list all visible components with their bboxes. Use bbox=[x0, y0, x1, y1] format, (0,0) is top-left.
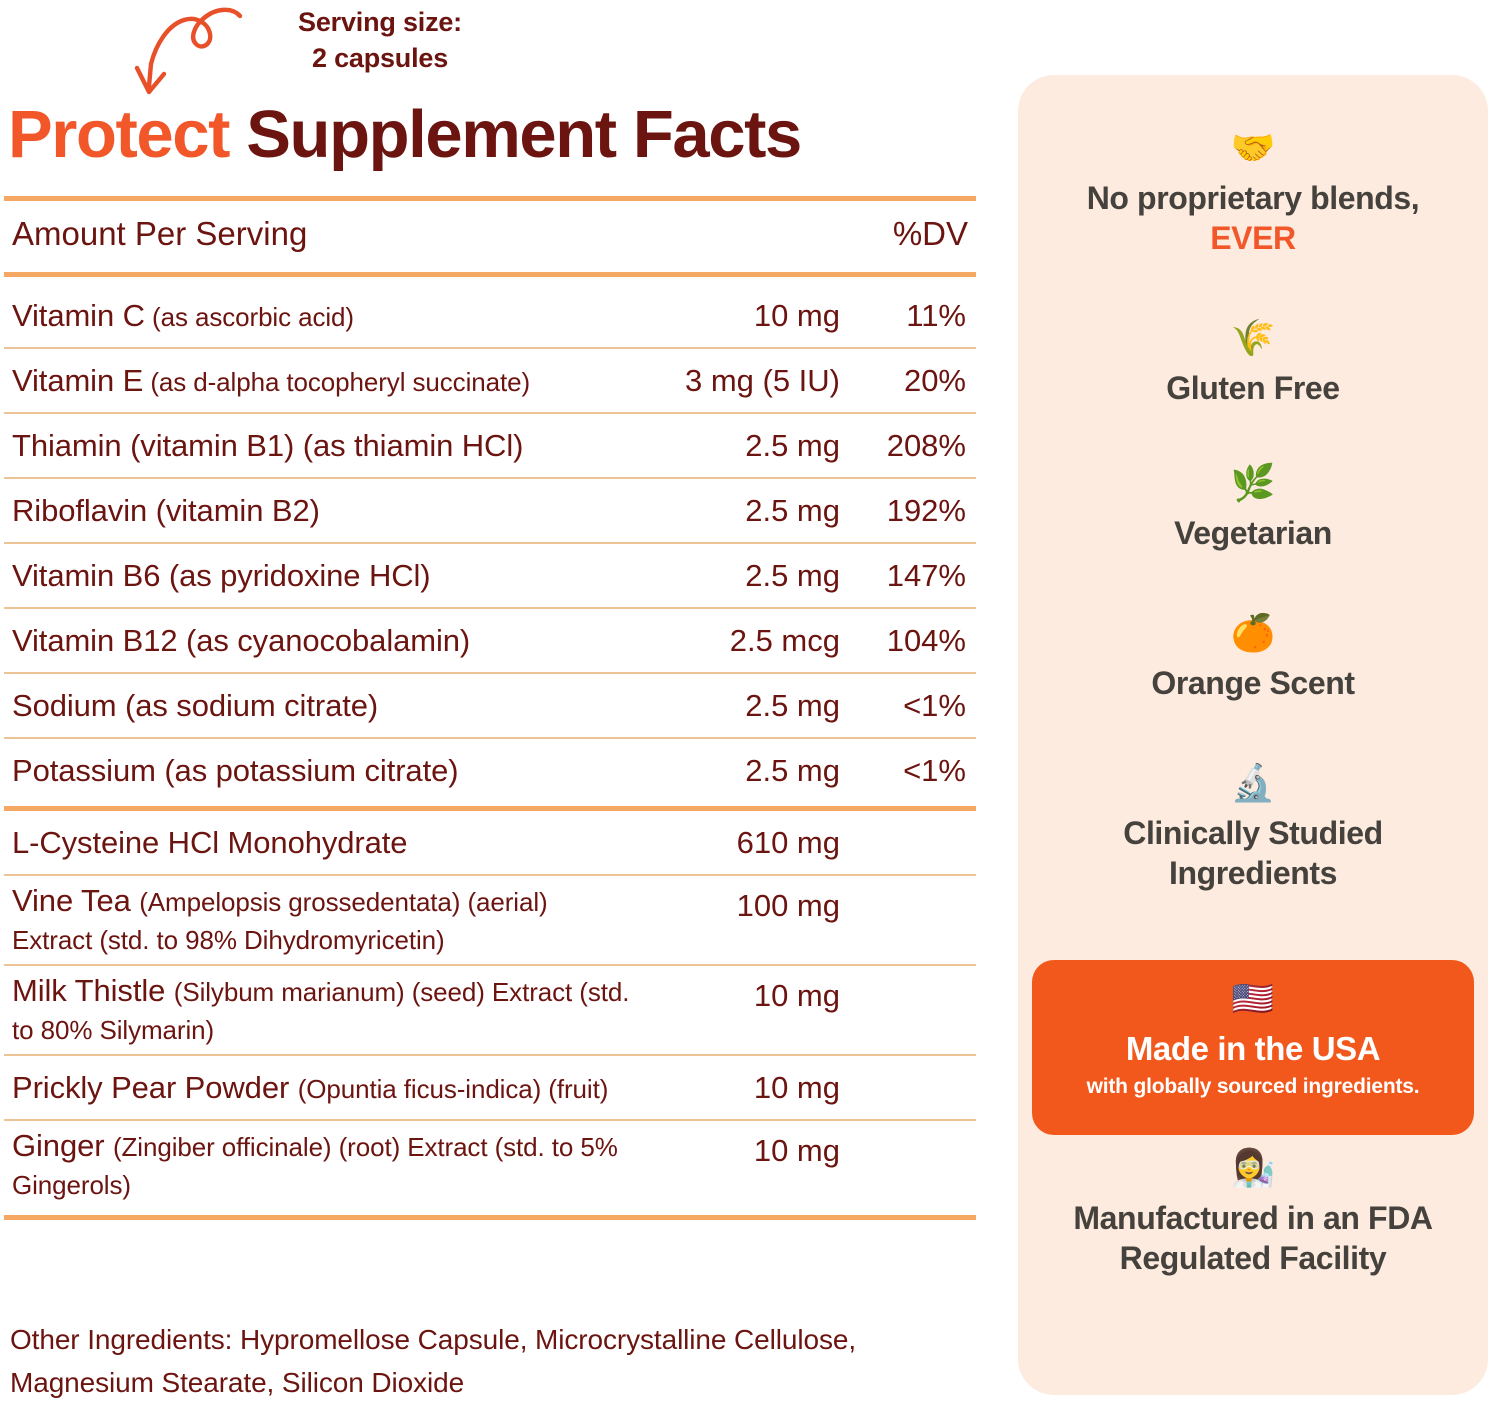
serving-size-line1: Serving size: bbox=[250, 5, 510, 41]
table-row: L-Cysteine HCl Monohydrate610 mg bbox=[4, 811, 976, 874]
ingredient-name: Ginger (Zingiber officinale) (root) Extr… bbox=[4, 1127, 630, 1203]
benefit-badge: 🌿Vegetarian bbox=[1018, 465, 1488, 553]
percent-dv-label: %DV bbox=[893, 215, 968, 253]
benefit-badge-text: Vegetarian bbox=[1174, 515, 1332, 551]
herb-icon: 🌿 bbox=[1018, 465, 1488, 501]
ingredient-amount: 10 mg bbox=[630, 1070, 848, 1106]
ingredient-name-main: Prickly Pear Powder bbox=[12, 1070, 298, 1105]
benefit-badge-text: Gluten Free bbox=[1166, 370, 1339, 406]
benefit-badge-label: Gluten Free bbox=[1018, 368, 1488, 408]
ingredient-amount: 610 mg bbox=[630, 825, 848, 861]
table-row: Vitamin B6 (as pyridoxine HCl)2.5 mg147% bbox=[4, 544, 976, 607]
ingredient-amount: 2.5 mg bbox=[630, 688, 848, 724]
nutrition-table: Vitamin C (as ascorbic acid)10 mg11%Vita… bbox=[4, 284, 976, 1220]
ingredient-name-main: Vitamin E bbox=[12, 363, 143, 398]
ingredient-name-main: Milk Thistle bbox=[12, 973, 174, 1008]
benefit-badge: 🌾Gluten Free bbox=[1018, 320, 1488, 408]
ingredient-name-main: Vitamin C bbox=[12, 298, 145, 333]
ingredient-name: Potassium (as potassium citrate) bbox=[4, 752, 630, 790]
ingredient-dv: 11% bbox=[848, 298, 976, 334]
benefit-badge-text: Clinically Studied Ingredients bbox=[1123, 815, 1383, 891]
ingredient-amount: 2.5 mg bbox=[630, 558, 848, 594]
benefit-badge-label: Clinically Studied Ingredients bbox=[1018, 813, 1488, 893]
other-ingredients: Other Ingredients: Hypromellose Capsule,… bbox=[10, 1318, 910, 1405]
us-flag-icon: 🇺🇸 bbox=[1032, 960, 1474, 1016]
ingredient-name: Vitamin E (as d-alpha tocopheryl succina… bbox=[4, 362, 630, 400]
made-in-usa-card: 🇺🇸 Made in the USA with globally sourced… bbox=[1032, 960, 1474, 1135]
table-row: Vitamin E (as d-alpha tocopheryl succina… bbox=[4, 349, 976, 412]
benefit-badge-text: No proprietary blends, bbox=[1087, 180, 1420, 216]
benefit-badge: 🍊Orange Scent bbox=[1018, 615, 1488, 703]
woman-scientist-icon: 👩‍🔬 bbox=[1018, 1150, 1488, 1186]
benefit-badge: 🔬Clinically Studied Ingredients bbox=[1018, 765, 1488, 893]
benefit-badge-label: Orange Scent bbox=[1018, 663, 1488, 703]
ingredient-dv: <1% bbox=[848, 753, 976, 789]
amount-per-serving-label: Amount Per Serving bbox=[12, 215, 307, 253]
ingredient-name-main: L-Cysteine HCl Monohydrate bbox=[12, 825, 407, 860]
vitamins-section: Vitamin C (as ascorbic acid)10 mg11%Vita… bbox=[4, 284, 976, 802]
ingredient-dv: <1% bbox=[848, 688, 976, 724]
ingredient-name-main: Thiamin (vitamin B1) (as thiamin HCl) bbox=[12, 428, 523, 463]
benefit-badge-label: Vegetarian bbox=[1018, 513, 1488, 553]
table-row: Milk Thistle (Silybum marianum) (seed) E… bbox=[4, 966, 976, 1054]
ingredient-name-main: Ginger bbox=[12, 1128, 113, 1163]
ingredient-name: Riboflavin (vitamin B2) bbox=[4, 492, 630, 530]
handshake-icon: 🤝 bbox=[1018, 130, 1488, 166]
ingredient-amount: 2.5 mg bbox=[630, 753, 848, 789]
rule-header-bottom bbox=[4, 272, 976, 277]
other-ingredients-label: Other Ingredients: bbox=[10, 1324, 232, 1355]
table-row: Thiamin (vitamin B1) (as thiamin HCl)2.5… bbox=[4, 414, 976, 477]
ingredient-name: Vitamin B6 (as pyridoxine HCl) bbox=[4, 557, 630, 595]
serving-size-line2: 2 capsules bbox=[250, 41, 510, 77]
microscope-icon: 🔬 bbox=[1018, 765, 1488, 801]
ingredient-dv bbox=[848, 966, 976, 978]
ingredient-amount: 2.5 mg bbox=[630, 493, 848, 529]
ingredient-name-main: Sodium (as sodium citrate) bbox=[12, 688, 378, 723]
benefits-panel: 🤝No proprietary blends, EVER🌾Gluten Free… bbox=[1018, 75, 1488, 1395]
supplement-facts-panel: Serving size: 2 capsules Protect Supplem… bbox=[0, 0, 985, 1420]
ingredient-name: Sodium (as sodium citrate) bbox=[4, 687, 630, 725]
ingredient-name: Milk Thistle (Silybum marianum) (seed) E… bbox=[4, 972, 630, 1048]
benefit-badge: 👩‍🔬Manufactured in an FDA Regulated Faci… bbox=[1018, 1150, 1488, 1278]
table-row: Potassium (as potassium citrate)2.5 mg<1… bbox=[4, 739, 976, 802]
ingredient-name: Vine Tea (Ampelopsis grossedentata) (aer… bbox=[4, 882, 630, 958]
table-row: Prickly Pear Powder (Opuntia ficus-indic… bbox=[4, 1056, 976, 1119]
made-in-usa-title: Made in the USA bbox=[1032, 1030, 1474, 1068]
ingredient-name-main: Vine Tea bbox=[12, 883, 139, 918]
ingredient-name: Thiamin (vitamin B1) (as thiamin HCl) bbox=[4, 427, 630, 465]
ingredient-dv: 208% bbox=[848, 428, 976, 464]
ingredient-amount: 2.5 mg bbox=[630, 428, 848, 464]
ingredient-amount: 3 mg (5 IU) bbox=[630, 363, 848, 399]
ingredient-dv: 104% bbox=[848, 623, 976, 659]
ingredient-amount: 100 mg bbox=[630, 876, 848, 924]
table-header: Amount Per Serving %DV bbox=[4, 215, 976, 265]
ingredient-amount: 10 mg bbox=[630, 966, 848, 1014]
benefit-badge-accent: EVER bbox=[1210, 220, 1296, 256]
ingredient-name: Prickly Pear Powder (Opuntia ficus-indic… bbox=[4, 1069, 630, 1107]
sheaf-of-rice-icon: 🌾 bbox=[1018, 320, 1488, 356]
ingredient-dv: 20% bbox=[848, 363, 976, 399]
table-row: Vine Tea (Ampelopsis grossedentata) (aer… bbox=[4, 876, 976, 964]
benefit-badge-label: No proprietary blends, EVER bbox=[1018, 178, 1488, 258]
ingredient-amount: 2.5 mcg bbox=[630, 623, 848, 659]
ingredient-name-main: Riboflavin (vitamin B2) bbox=[12, 493, 320, 528]
tangerine-icon: 🍊 bbox=[1018, 615, 1488, 651]
ingredient-dv: 192% bbox=[848, 493, 976, 529]
table-row: Riboflavin (vitamin B2)2.5 mg192% bbox=[4, 479, 976, 542]
rule-bottom bbox=[4, 1215, 976, 1220]
ingredient-dv: 147% bbox=[848, 558, 976, 594]
benefit-badge-text: Orange Scent bbox=[1151, 665, 1354, 701]
ingredient-dv bbox=[848, 1121, 976, 1133]
table-row: Sodium (as sodium citrate)2.5 mg<1% bbox=[4, 674, 976, 737]
ingredient-name-main: Potassium (as potassium citrate) bbox=[12, 753, 458, 788]
ingredient-name: L-Cysteine HCl Monohydrate bbox=[4, 824, 630, 862]
table-row: Ginger (Zingiber officinale) (root) Extr… bbox=[4, 1121, 976, 1209]
ingredient-name: Vitamin B12 (as cyanocobalamin) bbox=[4, 622, 630, 660]
ingredient-name: Vitamin C (as ascorbic acid) bbox=[4, 297, 630, 335]
ingredient-name-detail: (as d-alpha tocopheryl succinate) bbox=[143, 367, 530, 397]
serving-size-callout: Serving size: 2 capsules bbox=[250, 5, 510, 76]
benefit-badge-text: Manufactured in an FDA Regulated Facilit… bbox=[1073, 1200, 1432, 1276]
benefit-badge-label: Manufactured in an FDA Regulated Facilit… bbox=[1018, 1198, 1488, 1278]
title-product-name: Protect bbox=[8, 97, 229, 172]
ingredient-amount: 10 mg bbox=[630, 1121, 848, 1169]
ingredient-name-detail: (as ascorbic acid) bbox=[145, 302, 354, 332]
rule-top bbox=[4, 196, 976, 201]
table-row: Vitamin C (as ascorbic acid)10 mg11% bbox=[4, 284, 976, 347]
ingredient-name-detail: (Opuntia ficus-indica) (fruit) bbox=[298, 1074, 609, 1104]
benefit-badge: 🤝No proprietary blends, EVER bbox=[1018, 130, 1488, 258]
curved-arrow-icon bbox=[128, 2, 263, 102]
ingredient-dv bbox=[848, 876, 976, 888]
title-suffix: Supplement Facts bbox=[229, 97, 801, 172]
botanicals-section: L-Cysteine HCl Monohydrate610 mgVine Tea… bbox=[4, 811, 976, 1209]
ingredient-name-main: Vitamin B12 (as cyanocobalamin) bbox=[12, 623, 470, 658]
ingredient-amount: 10 mg bbox=[630, 298, 848, 334]
table-row: Vitamin B12 (as cyanocobalamin)2.5 mcg10… bbox=[4, 609, 976, 672]
page-title: Protect Supplement Facts bbox=[8, 96, 801, 173]
ingredient-name-main: Vitamin B6 (as pyridoxine HCl) bbox=[12, 558, 431, 593]
made-in-usa-subtitle: with globally sourced ingredients. bbox=[1032, 1075, 1474, 1099]
